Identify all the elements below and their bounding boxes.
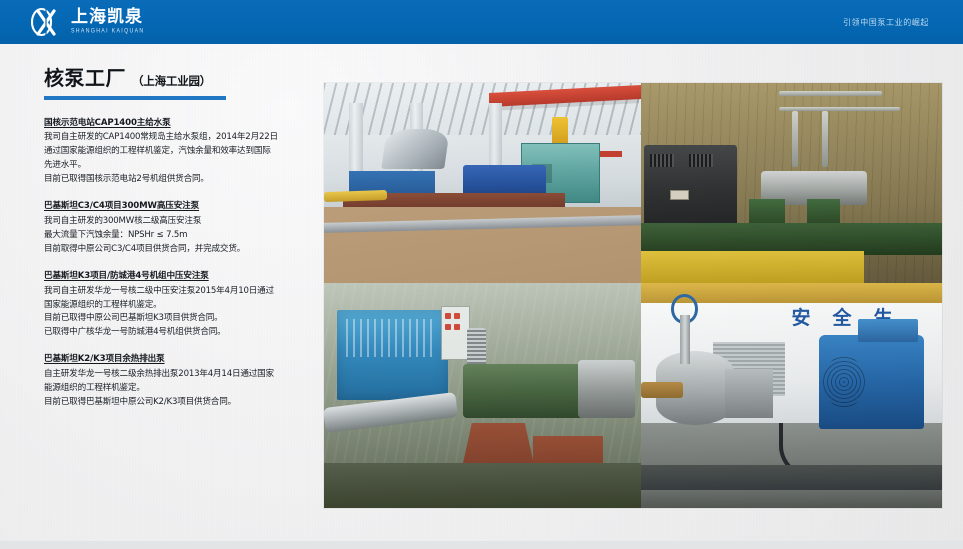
slide-canvas: 上海凯泉 SHANGHAI KAIQUAN 引领中国泵工业的崛起 核泵工厂 （上…	[0, 0, 963, 549]
brand-name-en: SHANGHAI KAIQUAN	[71, 29, 145, 35]
suction-pipe	[641, 382, 683, 398]
motor-vent	[650, 154, 674, 168]
blue-motor	[337, 310, 448, 400]
section-line: 已取得中广核华龙一号防城港4号机组供货合同。	[44, 326, 316, 340]
section-line: 最大流量下汽蚀余量：NPSHr ≤ 7.5m	[44, 229, 316, 243]
section-line: 我司自主研发华龙一号核二级中压安注泵2015年4月10日通过	[44, 285, 316, 299]
brand-logo[interactable]: 上海凯泉 SHANGHAI KAIQUAN	[28, 5, 145, 39]
section-line: 国家能源组织的工程样机鉴定。	[44, 299, 316, 313]
section-block: 国核示范电站CAP1400主给水泵 我司自主研发的CAP1400常规岛主给水泵组…	[44, 117, 316, 188]
motor-vent	[823, 356, 865, 409]
overhead-pipe	[779, 91, 881, 96]
section-heading: 巴基斯坦K3项目/防城港4号机组中压安注泵	[44, 270, 316, 283]
section-heading: 国核示范电站CAP1400主给水泵	[44, 117, 316, 130]
page-title: 核泵工厂 （上海工业园）	[44, 62, 316, 91]
silver-cone	[381, 129, 450, 169]
section-line: 通过国家能源组织的工程样机鉴定，汽蚀余量和效率达到国际	[44, 145, 316, 159]
section-line: 目前已取得中原公司巴基斯坦K3项目供货合同。	[44, 312, 316, 326]
section-line: 目前已取得国核示范电站2号机组供货合同。	[44, 173, 316, 187]
photo-grid: 安 全 生	[324, 83, 942, 508]
bearing-housing	[725, 369, 773, 419]
slogan-char: 安	[792, 303, 811, 330]
section-block: 巴基斯坦C3/C4项目300MW高压安注泵 我司自主研发的300MW核二级高压安…	[44, 200, 316, 257]
section-block: 巴基斯坦K2/K3项目余热排出泵 自主研发华龙一号核二级余热排出泵2013年4月…	[44, 353, 316, 410]
motor-vent	[689, 154, 713, 168]
photo-factory-hall[interactable]	[324, 83, 641, 283]
page-title-sub: （上海工业园）	[132, 73, 211, 89]
green-pump-body	[463, 364, 583, 418]
header-tagline: 引领中国泵工业的崛起	[843, 17, 929, 28]
section-block: 巴基斯坦K3项目/防城港4号机组中压安注泵 我司自主研发华龙一号核二级中压安注泵…	[44, 270, 316, 341]
title-underline	[44, 96, 226, 100]
nameplate	[670, 190, 689, 200]
section-line: 先进水平。	[44, 159, 316, 173]
content-column: 核泵工厂 （上海工业园） 国核示范电站CAP1400主给水泵 我司自主研发的CA…	[44, 62, 316, 410]
page-title-main: 核泵工厂	[44, 62, 126, 91]
terminal-box	[858, 319, 918, 342]
kaiquan-mark-icon	[28, 6, 64, 38]
section-line: 能源组织的工程样机鉴定。	[44, 382, 316, 396]
photo-steel-pump-unit[interactable]: 安 全 生	[641, 283, 942, 508]
control-panel	[441, 306, 470, 360]
blue-motor	[819, 335, 924, 430]
riser-pipe	[792, 111, 799, 167]
section-line: 我司自主研发的CAP1400常规岛主给水泵组，2014年2月22日	[44, 131, 316, 145]
black-motor	[644, 145, 737, 231]
riser-pipe	[822, 111, 829, 167]
vertical-pipe	[680, 315, 690, 365]
overhead-pipe	[779, 107, 899, 111]
section-heading: 巴基斯坦C3/C4项目300MW高压安注泵	[44, 200, 316, 213]
footer-strip	[0, 541, 963, 549]
photo-plant-room[interactable]	[641, 83, 942, 283]
hoist-block	[552, 117, 568, 143]
section-line: 自主研发华龙一号核二级余热排出泵2013年4月14日通过国家	[44, 368, 316, 382]
header-bar: 上海凯泉 SHANGHAI KAIQUAN 引领中国泵工业的崛起	[0, 0, 963, 44]
floor	[641, 490, 942, 508]
test-bed-deck	[324, 463, 641, 508]
steel-head	[578, 360, 635, 419]
brand-name-cn: 上海凯泉	[71, 9, 145, 26]
motor-fins	[346, 319, 435, 357]
section-line: 目前已取得巴基斯坦中原公司K2/K3项目供货合同。	[44, 396, 316, 410]
section-line: 目前取得中原公司C3/C4项目供货合同，并完成交货。	[44, 243, 316, 257]
photo-blue-motor-unit[interactable]	[324, 283, 641, 508]
section-line: 我司自主研发的300MW核二级高压安注泵	[44, 215, 316, 229]
yellow-floor	[641, 251, 864, 283]
section-list: 国核示范电站CAP1400主给水泵 我司自主研发的CAP1400常规岛主给水泵组…	[44, 117, 316, 410]
section-heading: 巴基斯坦K2/K3项目余热排出泵	[44, 353, 316, 366]
slogan-char: 全	[833, 303, 852, 330]
